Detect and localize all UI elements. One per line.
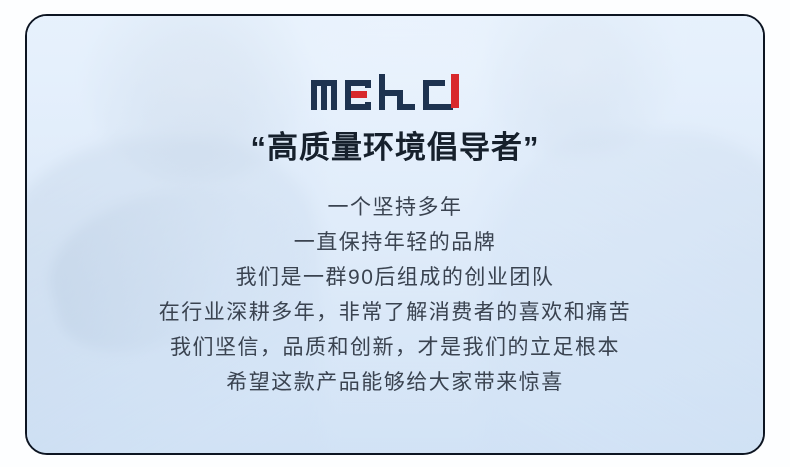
mebo-logo: [311, 74, 479, 110]
copy-line: 一直保持年轻的品牌: [294, 225, 497, 260]
page-title: “高质量环境倡导者”: [251, 130, 540, 166]
framed-card: “高质量环境倡导者” 一个坚持多年 一直保持年轻的品牌 我们是一群90后组成的创…: [25, 14, 765, 455]
copy-line: 我们坚信，品质和创新，才是我们的立足根本: [170, 330, 620, 365]
copy-line: 希望这款产品能够给大家带来惊喜: [226, 365, 564, 400]
copy-line: 一个坚持多年: [328, 190, 463, 225]
body-copy: 一个坚持多年 一直保持年轻的品牌 我们是一群90后组成的创业团队 在行业深耕多年…: [159, 190, 632, 400]
brand-story-banner: “高质量环境倡导者” 一个坚持多年 一直保持年轻的品牌 我们是一群90后组成的创…: [0, 0, 790, 467]
copy-line: 我们是一群90后组成的创业团队: [236, 260, 555, 295]
copy-line: 在行业深耕多年，非常了解消费者的喜欢和痛苦: [159, 295, 632, 330]
card-content: “高质量环境倡导者” 一个坚持多年 一直保持年轻的品牌 我们是一群90后组成的创…: [27, 16, 763, 453]
